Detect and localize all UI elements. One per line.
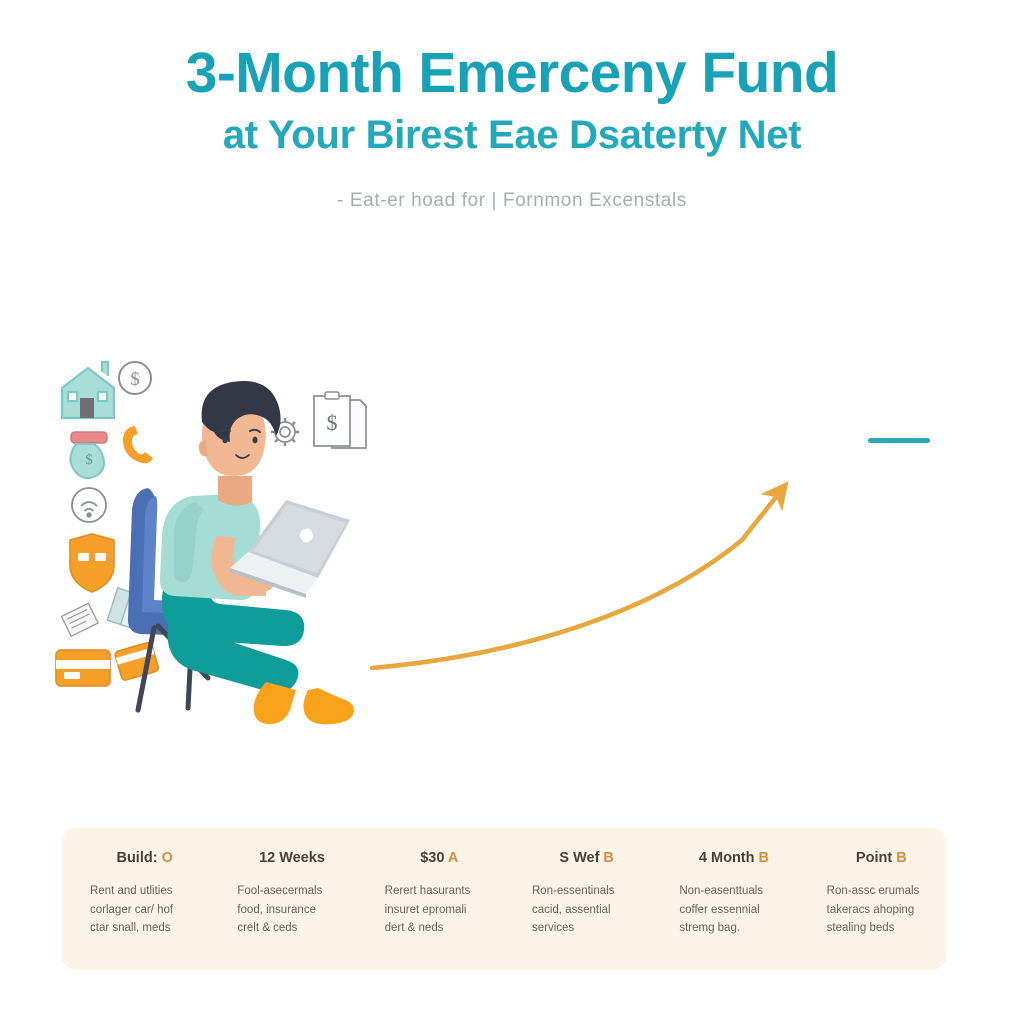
card-body: Rerert hasurants insuret epromali dert &…	[385, 882, 494, 938]
card-line: Rerert hasurants	[385, 882, 494, 901]
house-icon	[62, 362, 114, 418]
shoes	[254, 682, 354, 724]
tagline: - Eat-er hoad for | Fornmon Excenstals	[0, 190, 1024, 212]
growth-arrow-chart	[350, 420, 970, 690]
card-line: stremg bag.	[679, 919, 788, 938]
card-line: coffer essennial	[679, 901, 788, 920]
card-heading-text: 4 Month	[699, 850, 759, 866]
card-line: stealing beds	[827, 919, 936, 938]
card-heading: Point B	[827, 850, 936, 866]
card-heading: Build: O	[90, 850, 199, 866]
card-body: Rent and utlities corlager car/ hof ctar…	[90, 882, 199, 938]
summary-card[interactable]: 12 Weeks Fool-asecermals food, insurance…	[209, 828, 356, 970]
card-line: Fool-asecermals	[237, 882, 346, 901]
card-heading: 12 Weeks	[237, 850, 346, 866]
receipt-icon	[61, 603, 98, 636]
card-body: Non-easenttuals coffer essennial stremg …	[679, 882, 788, 938]
card-line: Non-easenttuals	[679, 882, 788, 901]
card-heading-accent: B	[896, 850, 906, 866]
teal-dash-marker	[868, 438, 930, 443]
card-heading: S Wef B	[532, 850, 641, 866]
person-laptop-illustration: $ $	[40, 340, 380, 730]
card-line: Ron-assc erumals	[827, 882, 936, 901]
card-heading-accent: B	[603, 850, 613, 866]
card-heading: $30 A	[385, 850, 494, 866]
card-line: Ron-essentinals	[532, 882, 641, 901]
card-line: crelt & ceds	[237, 919, 346, 938]
shield-icon	[70, 534, 114, 592]
summary-card[interactable]: Build: O Rent and utlities corlager car/…	[62, 828, 209, 970]
header: 3-Month Emerceny Fund at Your Birest Eae…	[0, 44, 1024, 212]
card-heading-accent: O	[162, 850, 173, 866]
summary-card[interactable]: S Wef B Ron-essentinals cacid, assential…	[504, 828, 651, 970]
summary-card[interactable]: Point B Ron-assc erumals takeracs ahopin…	[799, 828, 946, 970]
card-line: Rent and utlities	[90, 882, 199, 901]
card-line: insuret epromali	[385, 901, 494, 920]
svg-text:$: $	[85, 452, 93, 468]
card-line: food, insurance	[237, 901, 346, 920]
dollar-coin-icon: $	[119, 362, 151, 394]
page-subtitle: at Your Birest Eae Dsaterty Net	[0, 114, 1024, 156]
card-line: takeracs ahoping	[827, 901, 936, 920]
phone-icon	[123, 426, 153, 463]
summary-card[interactable]: $30 A Rerert hasurants insuret epromali …	[357, 828, 504, 970]
card-heading: 4 Month B	[679, 850, 788, 866]
summary-card[interactable]: 4 Month B Non-easenttuals coffer essenni…	[651, 828, 798, 970]
poster-canvas: 3-Month Emerceny Fund at Your Birest Eae…	[0, 0, 1024, 1024]
card-body: Ron-assc erumals takeracs ahoping steali…	[827, 882, 936, 938]
card-body: Ron-essentinals cacid, assential service…	[532, 882, 641, 938]
card-heading-text: 12 Weeks	[259, 850, 325, 866]
card-line: cacid, assential	[532, 901, 641, 920]
wifi-icon	[72, 488, 106, 522]
card-line: services	[532, 919, 641, 938]
svg-text:$: $	[130, 369, 140, 390]
summary-card-strip: Build: O Rent and utlities corlager car/…	[62, 828, 946, 970]
card-body: Fool-asecermals food, insurance crelt & …	[237, 882, 346, 938]
money-bag-icon: $	[70, 432, 107, 478]
card-heading-accent: A	[448, 850, 458, 866]
card-heading-text: Point	[856, 850, 896, 866]
card-heading-text: $30	[420, 850, 448, 866]
wallet-icon	[56, 650, 110, 686]
card-heading-text: S Wef	[559, 850, 603, 866]
card-heading-text: Build:	[116, 850, 161, 866]
card-line: dert & neds	[385, 919, 494, 938]
card-line: corlager car/ hof	[90, 901, 199, 920]
svg-text:$: $	[327, 410, 338, 435]
page-title: 3-Month Emerceny Fund	[0, 44, 1024, 102]
card-heading-accent: B	[759, 850, 769, 866]
growth-arrow-path	[372, 492, 780, 668]
card-line: ctar snall, meds	[90, 919, 199, 938]
